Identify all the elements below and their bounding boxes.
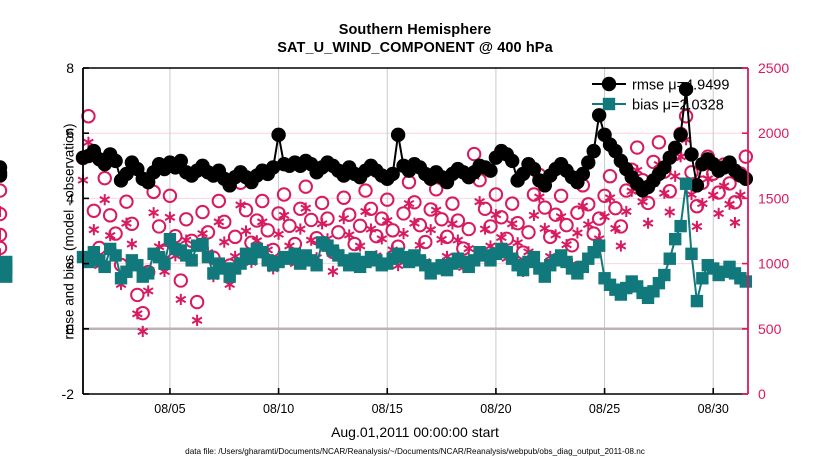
tick-label-left: 8 — [66, 60, 74, 76]
tick-label-left: 6 — [66, 125, 74, 141]
tick-label-right: 0 — [758, 386, 766, 402]
marker-bias — [680, 178, 692, 190]
x-axis-label: Aug.01,2011 00:00:00 start — [0, 424, 830, 440]
marker-bias — [99, 261, 111, 273]
marker-possible — [153, 220, 165, 232]
marker-possible — [560, 219, 572, 231]
tick-label-right: 500 — [758, 321, 782, 337]
marker-possible — [256, 195, 268, 207]
marker-bias — [131, 259, 143, 271]
marker-possible — [386, 224, 398, 236]
marker-possible — [229, 231, 241, 243]
marker-bias — [664, 253, 676, 265]
marker-possible — [555, 190, 567, 202]
marker-possible — [283, 220, 295, 232]
tick-label-x: 08/25 — [589, 402, 620, 416]
marker-possible — [82, 110, 94, 122]
marker-bias — [158, 257, 170, 269]
marker-bias — [142, 267, 154, 279]
tick-label-x: 08/05 — [154, 402, 185, 416]
marker-bias — [539, 270, 551, 282]
marker-possible — [522, 226, 534, 238]
marker-possible — [131, 289, 143, 301]
marker-possible — [631, 141, 643, 153]
legend-label-rmse: rmse μ=4.9499 — [632, 78, 729, 94]
marker-possible — [348, 238, 360, 250]
marker-possible — [305, 214, 317, 226]
tick-label-left: 4 — [66, 190, 74, 206]
marker-bias — [120, 266, 132, 278]
tick-label-x: 08/20 — [480, 402, 511, 416]
marker-rmse — [739, 172, 753, 186]
tick-label-left: 0 — [66, 321, 74, 337]
legend-label-bias: bias μ=2.0328 — [632, 98, 724, 114]
marker-possible — [359, 184, 371, 196]
plot-canvas: -2024680500100015002000250008/0508/1008/… — [0, 0, 830, 470]
marker-possible — [0, 184, 6, 196]
marker-bias — [658, 269, 670, 281]
marker-possible — [109, 227, 121, 239]
marker-bias — [109, 249, 121, 261]
marker-possible — [354, 220, 366, 232]
tick-label-left: -2 — [62, 386, 75, 402]
marker-possible — [376, 212, 388, 224]
marker-possible — [479, 203, 491, 215]
marker-possible — [544, 231, 556, 243]
marker-possible — [604, 170, 616, 182]
marker-rmse — [505, 154, 519, 168]
marker-bias — [310, 259, 322, 271]
marker-rmse — [684, 147, 698, 161]
marker-possible — [191, 296, 203, 308]
marker-possible — [571, 207, 583, 219]
marker-rmse — [668, 141, 682, 155]
data-file-caption: data file: /Users/gharamti/Documents/NCA… — [0, 447, 830, 456]
marker-possible — [300, 180, 312, 192]
marker-rmse — [587, 144, 601, 158]
marker-possible — [120, 195, 132, 207]
marker-bias — [669, 233, 681, 245]
marker-possible — [196, 206, 208, 218]
marker-possible — [740, 150, 752, 162]
marker-rmse — [483, 163, 497, 177]
marker-bias — [685, 248, 697, 260]
marker-possible — [99, 172, 111, 184]
marker-possible — [593, 212, 605, 224]
marker-possible — [664, 185, 676, 197]
marker-possible — [653, 136, 665, 148]
marker-possible — [615, 220, 627, 232]
marker-bias — [593, 239, 605, 251]
marker-rmse — [108, 154, 122, 168]
marker-possible — [88, 205, 100, 217]
tick-label-left: 2 — [66, 256, 74, 272]
marker-bias — [185, 254, 197, 266]
marker-bias — [696, 272, 708, 284]
marker-rmse — [271, 128, 285, 142]
marker-possible — [609, 202, 621, 214]
chart-figure: Southern Hemisphere SAT_U_WIND_COMPONENT… — [0, 0, 830, 470]
marker-bias — [740, 275, 752, 287]
tick-label-right: 1500 — [758, 190, 789, 206]
marker-possible — [338, 192, 350, 204]
tick-label-right: 2000 — [758, 125, 789, 141]
tick-label-right: 2500 — [758, 60, 789, 76]
marker-bias — [0, 264, 12, 276]
marker-possible — [463, 223, 475, 235]
marker-possible — [180, 213, 192, 225]
marker-possible — [332, 226, 344, 238]
marker-possible — [262, 224, 274, 236]
marker-bias — [528, 251, 540, 263]
marker-possible — [468, 148, 480, 160]
tick-label-right: 1000 — [758, 256, 789, 272]
marker-possible — [104, 209, 116, 221]
marker-possible — [414, 219, 426, 231]
marker-rmse — [391, 128, 405, 142]
marker-possible — [446, 197, 458, 209]
marker-possible — [506, 197, 518, 209]
marker-possible — [175, 274, 187, 286]
marker-possible — [435, 213, 447, 225]
marker-possible — [582, 198, 594, 210]
marker-bias — [674, 220, 686, 232]
legend-marker-bias — [603, 98, 615, 110]
marker-bias — [202, 251, 214, 263]
marker-rmse — [592, 108, 606, 122]
marker-possible — [397, 207, 409, 219]
marker-bias — [196, 238, 208, 250]
marker-possible — [549, 209, 561, 221]
tick-label-x: 08/10 — [263, 402, 294, 416]
marker-bias — [691, 295, 703, 307]
tick-label-x: 08/30 — [698, 402, 729, 416]
legend-marker-rmse — [602, 77, 616, 91]
marker-possible — [213, 195, 225, 207]
marker-rmse — [673, 128, 687, 142]
tick-label-x: 08/15 — [372, 402, 403, 416]
